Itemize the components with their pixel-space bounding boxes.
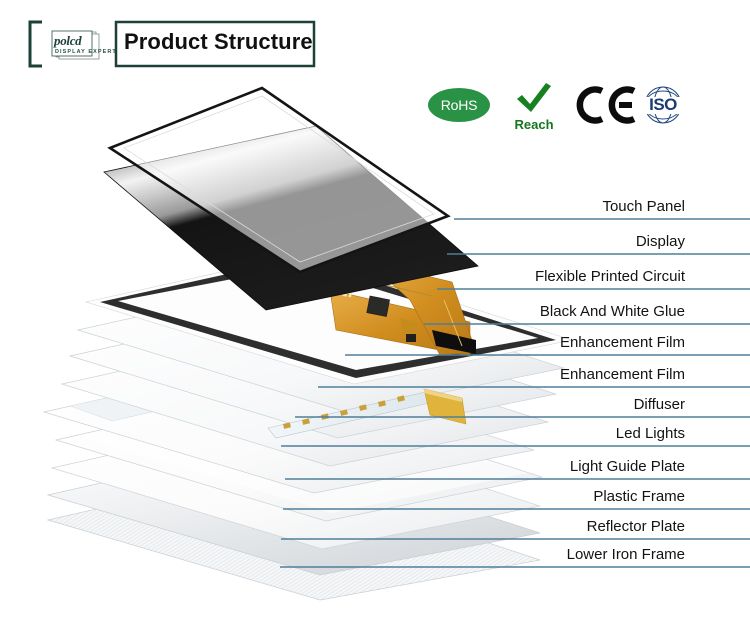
label-touch-panel: Touch Panel [602,198,685,215]
label-display: Display [636,233,685,250]
label-enhancement-film-1: Enhancement Film [560,334,685,351]
label-black-and-white-glue: Black And White Glue [540,303,685,320]
label-enhancement-film-2: Enhancement Film [560,366,685,383]
label-led-lights: Led Lights [616,425,685,442]
label-diffuser: Diffuser [634,396,685,413]
label-lower-iron-frame: Lower Iron Frame [567,546,685,563]
label-reflector-plate: Reflector Plate [587,518,685,535]
label-plastic-frame: Plastic Frame [593,488,685,505]
label-flexible-printed-circuit: Flexible Printed Circuit [535,268,685,285]
label-light-guide-plate: Light Guide Plate [570,458,685,475]
callout-labels: Touch Panel Display Flexible Printed Cir… [0,0,750,622]
